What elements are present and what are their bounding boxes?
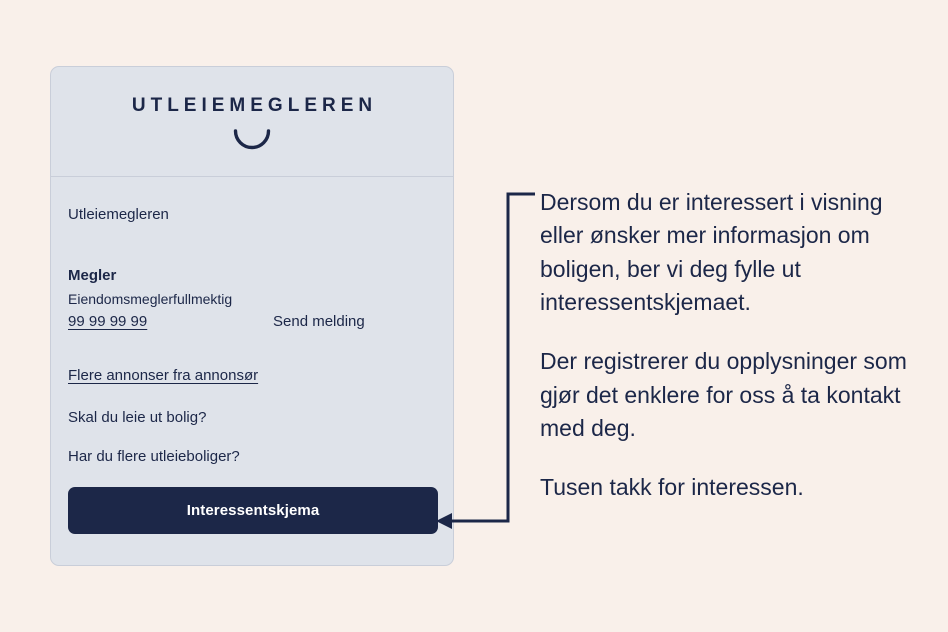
callout-annotation-text: Dersom du er interessert i visning eller… xyxy=(540,186,912,505)
interest-form-button[interactable]: Interessentskjema xyxy=(68,487,438,534)
agent-contact-card: UTLEIEMEGLEREN Utleiemegleren Megler Eie… xyxy=(50,66,454,566)
more-ads-from-advertiser-link[interactable]: Flere annonser fra annonsør xyxy=(68,367,258,386)
smile-arc-icon xyxy=(51,129,453,151)
card-header: UTLEIEMEGLEREN xyxy=(51,67,453,177)
rent-out-property-link[interactable]: Skal du leie ut bolig? xyxy=(68,409,206,428)
annotation-paragraph-2: Der registrerer du opplysninger som gjør… xyxy=(540,345,912,445)
more-rental-properties-link[interactable]: Har du flere utleieboliger? xyxy=(68,448,240,467)
annotation-paragraph-1: Dersom du er interessert i visning eller… xyxy=(540,186,912,319)
agent-role-heading: Megler xyxy=(68,267,116,286)
agent-phone-link[interactable]: 99 99 99 99 xyxy=(68,313,147,332)
send-message-link[interactable]: Send melding xyxy=(273,313,365,332)
company-name: Utleiemegleren xyxy=(68,206,169,225)
annotation-paragraph-3: Tusen takk for interessen. xyxy=(540,471,912,504)
agent-role-subtitle: Eiendomsmeglerfullmektig xyxy=(68,291,232,309)
brand-logo-text: UTLEIEMEGLEREN xyxy=(51,95,453,117)
